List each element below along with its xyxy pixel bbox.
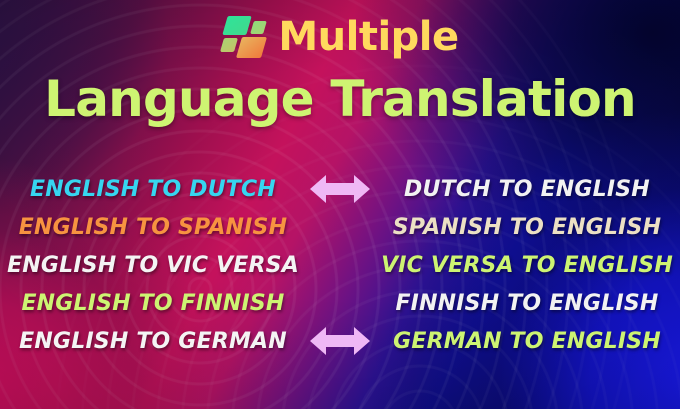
- poster-content: Multiple Language Translation ENGLISH TO…: [0, 0, 680, 409]
- brand-header: Multiple: [0, 14, 680, 60]
- source-to-target-label: ENGLISH TO FINNISH: [0, 291, 306, 316]
- language-pair-row: ENGLISH TO FINNISH FINNISH TO ENGLISH: [0, 284, 680, 322]
- brand-name: Multiple: [278, 17, 458, 57]
- language-pair-row: ENGLISH TO GERMAN GERMAN TO ENGLISH: [0, 322, 680, 360]
- target-to-source-label: FINNISH TO ENGLISH: [374, 291, 680, 316]
- target-to-source-label: SPANISH TO ENGLISH: [374, 215, 680, 240]
- page-title: Language Translation: [0, 74, 680, 125]
- language-pair-row: ENGLISH TO DUTCH DUTCH TO ENGLISH: [0, 170, 680, 208]
- logo-shape-bottom-left: [220, 38, 238, 52]
- logo-shape-bottom-right: [236, 37, 267, 58]
- language-pair-row: ENGLISH TO VIC VERSA VIC VERSA TO ENGLIS…: [0, 246, 680, 284]
- source-to-target-label: ENGLISH TO DUTCH: [0, 177, 306, 202]
- target-to-source-label: DUTCH TO ENGLISH: [374, 177, 680, 202]
- target-to-source-label: VIC VERSA TO ENGLISH: [374, 253, 680, 278]
- double-headed-arrow-icon: [305, 322, 375, 360]
- source-to-target-label: ENGLISH TO SPANISH: [0, 215, 306, 240]
- language-pairs-list: ENGLISH TO DUTCH DUTCH TO ENGLISH ENGLIS…: [0, 170, 680, 385]
- double-headed-arrow-icon: [305, 170, 375, 208]
- multiple-logo-icon: [221, 14, 267, 60]
- logo-shape-top-right: [250, 21, 267, 34]
- language-pair-row: ENGLISH TO SPANISH SPANISH TO ENGLISH: [0, 208, 680, 246]
- source-to-target-label: ENGLISH TO GERMAN: [0, 329, 306, 354]
- target-to-source-label: GERMAN TO ENGLISH: [374, 329, 680, 354]
- logo-shape-top-left: [223, 16, 252, 35]
- source-to-target-label: ENGLISH TO VIC VERSA: [0, 253, 306, 278]
- translation-service-poster: Multiple Language Translation ENGLISH TO…: [0, 0, 680, 409]
